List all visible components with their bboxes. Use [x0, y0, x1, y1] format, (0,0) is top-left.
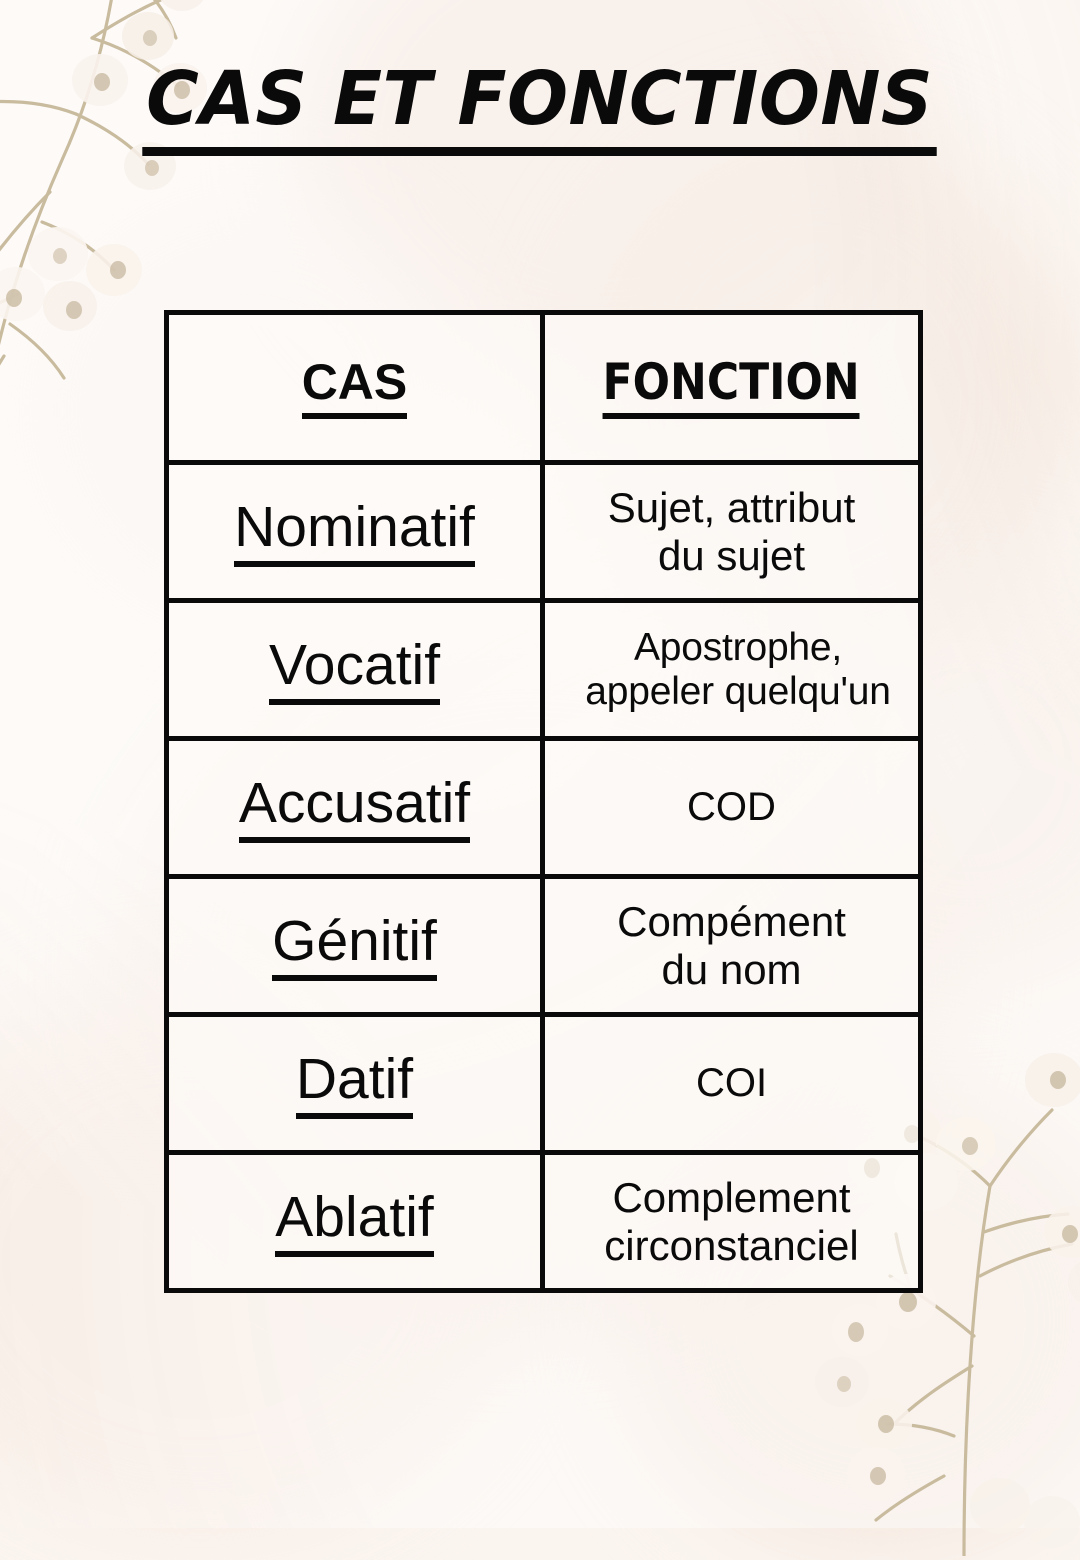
case-name-datif: Datif — [296, 1048, 413, 1119]
case-name-vocatif: Vocatif — [269, 634, 440, 705]
table-cell-fonction: Apostrophe, appeler quelqu'un — [543, 601, 921, 739]
cas-fonctions-table: CAS FONCTION Nominatif Sujet, attribut d… — [164, 310, 923, 1293]
table-row: Nominatif Sujet, attribut du sujet — [167, 463, 921, 601]
cas-fonctions-table-container: CAS FONCTION Nominatif Sujet, attribut d… — [164, 310, 918, 1293]
table-cell-cas: Accusatif — [167, 739, 543, 877]
table-row: Vocatif Apostrophe, appeler quelqu'un — [167, 601, 921, 739]
table-cell-cas: Nominatif — [167, 463, 543, 601]
table-cell-fonction: COD — [543, 739, 921, 877]
table-row: Ablatif Complement circonstanciel — [167, 1153, 921, 1291]
table-cell-fonction: Sujet, attribut du sujet — [543, 463, 921, 601]
case-name-accusatif: Accusatif — [239, 772, 470, 843]
table-cell-cas: Génitif — [167, 877, 543, 1015]
page-title: CAS ET FONCTIONS — [143, 62, 938, 156]
table-cell-cas: Datif — [167, 1015, 543, 1153]
table-row: Accusatif COD — [167, 739, 921, 877]
table-header-cell-fonction: FONCTION — [543, 313, 921, 463]
table-cell-fonction: Complement circonstanciel — [543, 1153, 921, 1291]
case-name-nominatif: Nominatif — [234, 496, 475, 567]
table-header-cell-cas: CAS — [167, 313, 543, 463]
function-text-ablatif: Complement circonstanciel — [604, 1174, 858, 1268]
table-cell-fonction: COI — [543, 1015, 921, 1153]
table-cell-cas: Vocatif — [167, 601, 543, 739]
function-text-datif: COI — [696, 1061, 767, 1105]
table-cell-cas: Ablatif — [167, 1153, 543, 1291]
page-title-container: CAS ET FONCTIONS — [0, 62, 1080, 156]
table-header-row: CAS FONCTION — [167, 313, 921, 463]
function-text-vocatif: Apostrophe, appeler quelqu'un — [547, 626, 921, 713]
table-row: Génitif Compément du nom — [167, 877, 921, 1015]
function-text-accusatif: COD — [687, 785, 776, 829]
case-name-ablatif: Ablatif — [275, 1186, 433, 1257]
table-cell-fonction: Compément du nom — [543, 877, 921, 1015]
function-text-nominatif: Sujet, attribut du sujet — [608, 484, 855, 578]
column-header-fonction: FONCTION — [603, 356, 860, 419]
case-name-genitif: Génitif — [272, 910, 437, 981]
function-text-genitif: Compément du nom — [617, 898, 846, 992]
column-header-cas: CAS — [302, 356, 408, 419]
table-row: Datif COI — [167, 1015, 921, 1153]
